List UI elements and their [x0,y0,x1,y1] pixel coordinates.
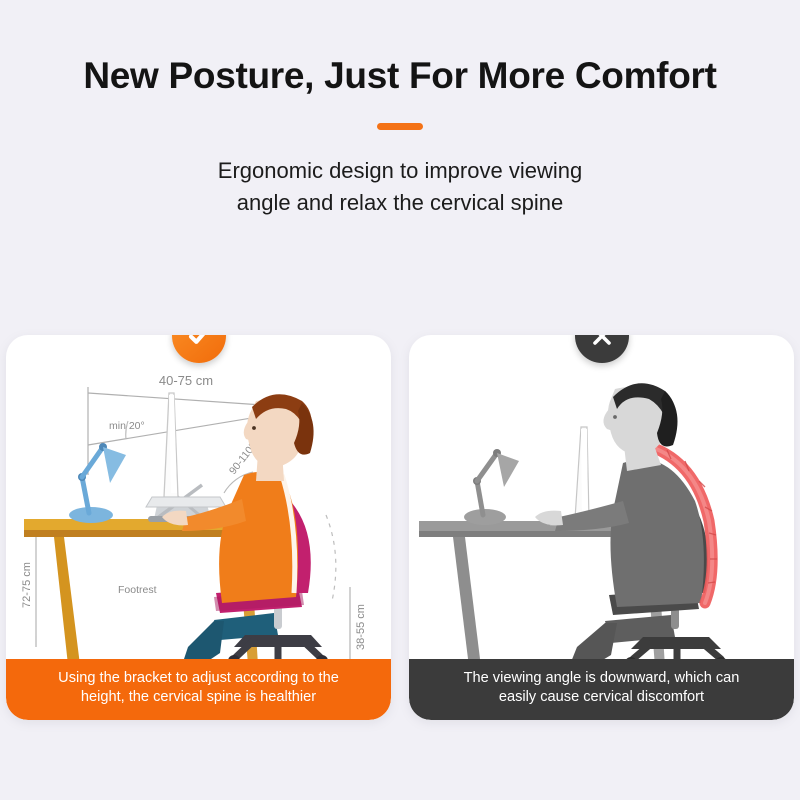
good-posture-panel: 72-75 cm 40-75 cm min 20° [6,335,391,720]
bad-posture-caption: The viewing angle is downward, which can… [409,659,794,721]
page-root: New Posture, Just For More Comfort Ergon… [0,0,800,800]
good-caption-line-2: height, the cervical spine is healthier [20,688,377,707]
page-subtitle: Ergonomic design to improve viewing angl… [0,155,800,219]
good-posture-caption: Using the bracket to adjust according to… [6,659,391,721]
svg-text:40-75 cm: 40-75 cm [159,373,213,388]
svg-text:72-75 cm: 72-75 cm [21,562,33,608]
subtitle-line-2: angle and relax the cervical spine [0,187,800,219]
bad-caption-line-1: The viewing angle is downward, which can [423,669,780,688]
bad-caption-line-2: easily cause cervical discomfort [423,688,780,707]
subtitle-line-1: Ergonomic design to improve viewing [0,155,800,187]
comparison-panels: 72-75 cm 40-75 cm min 20° [0,335,800,720]
svg-text:Footrest: Footrest [118,584,157,596]
bad-posture-panel: The viewing angle is downward, which can… [409,335,794,720]
close-icon [588,335,616,350]
header: New Posture, Just For More Comfort Ergon… [0,0,800,218]
svg-text:min 20°: min 20° [109,420,145,432]
good-caption-line-1: Using the bracket to adjust according to… [20,669,377,688]
page-title: New Posture, Just For More Comfort [0,56,800,97]
title-divider-wrap [0,123,800,130]
title-divider [377,123,423,130]
svg-text:38-55 cm: 38-55 cm [355,604,367,650]
check-icon [184,335,214,351]
